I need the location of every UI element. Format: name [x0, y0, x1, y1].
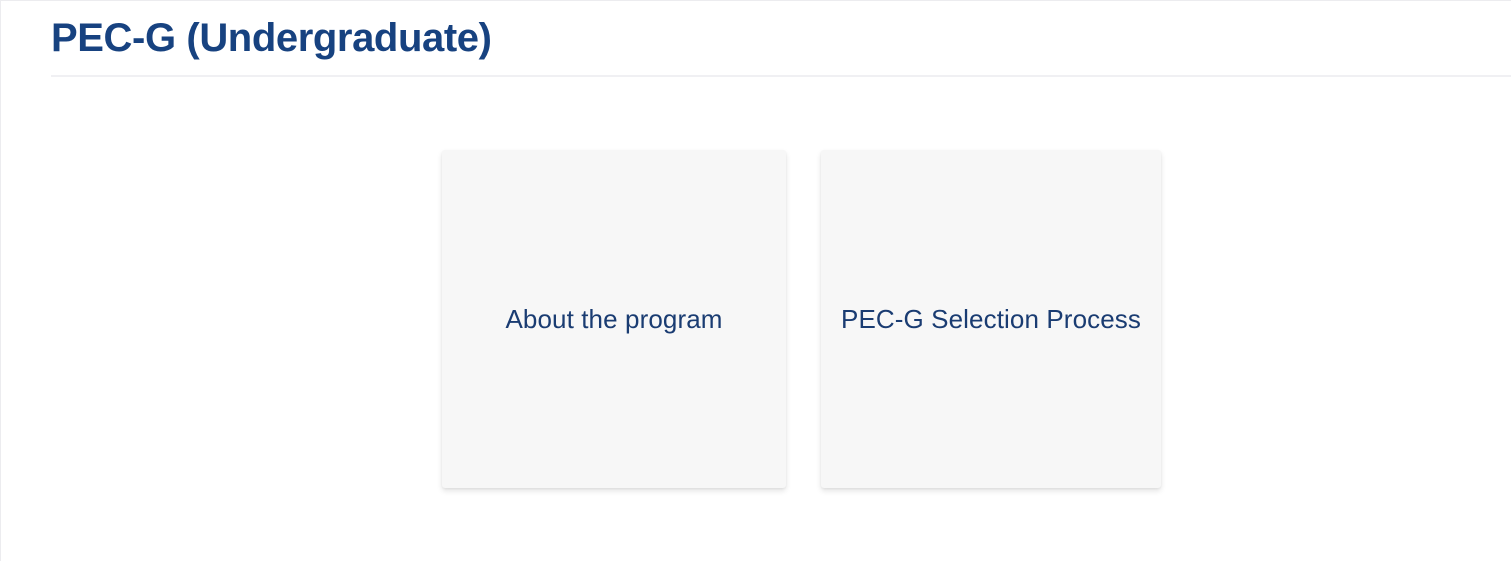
- card-pec-g-selection-process[interactable]: PEC-G Selection Process: [821, 150, 1161, 488]
- card-label: About the program: [505, 302, 722, 336]
- page-title: PEC-G (Undergraduate): [51, 1, 1511, 62]
- page-root: PEC-G (Undergraduate) About the program …: [0, 0, 1511, 561]
- card-about-the-program[interactable]: About the program: [442, 150, 786, 488]
- card-grid: About the program PEC-G Selection Proces…: [442, 150, 1161, 488]
- card-region: About the program PEC-G Selection Proces…: [1, 77, 1511, 562]
- card-label: PEC-G Selection Process: [841, 302, 1141, 336]
- page-header: PEC-G (Undergraduate): [1, 1, 1511, 77]
